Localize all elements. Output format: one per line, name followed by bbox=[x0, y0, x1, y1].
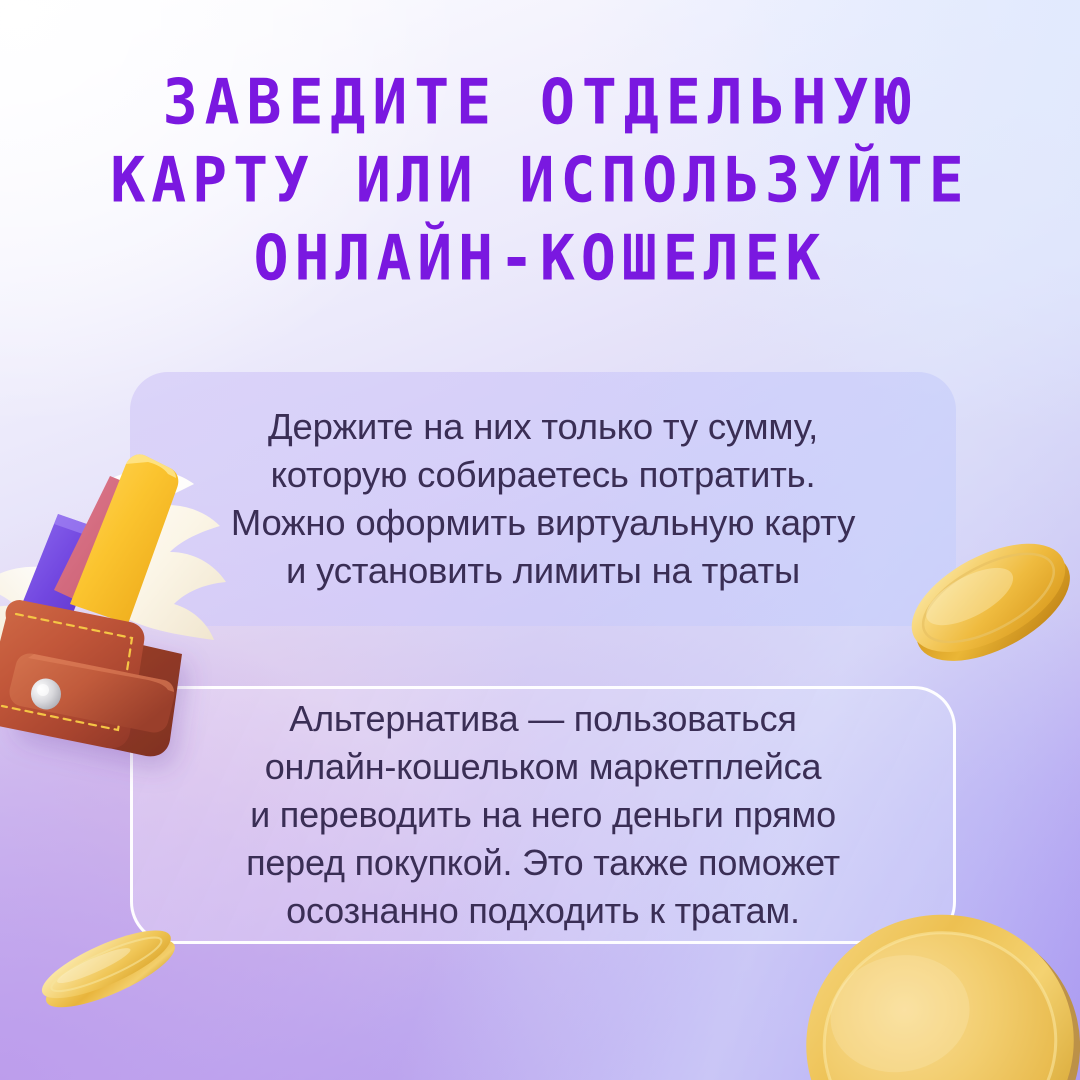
info-card-secondary-text: Альтернатива — пользоваться онлайн-кошел… bbox=[220, 695, 866, 935]
coin-bottom-right bbox=[795, 898, 1080, 1080]
wallet-snap-highlight bbox=[37, 684, 49, 696]
winged-wallet-illustration bbox=[0, 418, 258, 748]
info-card-primary-text: Держите на них только ту сумму, которую … bbox=[205, 403, 881, 595]
coin-bottom-left bbox=[28, 908, 188, 1028]
slide-canvas: ЗАВЕДИТЕ ОТДЕЛЬНУЮ КАРТУ ИЛИ ИСПОЛЬЗУЙТЕ… bbox=[0, 0, 1080, 1080]
coin-right bbox=[898, 512, 1078, 682]
